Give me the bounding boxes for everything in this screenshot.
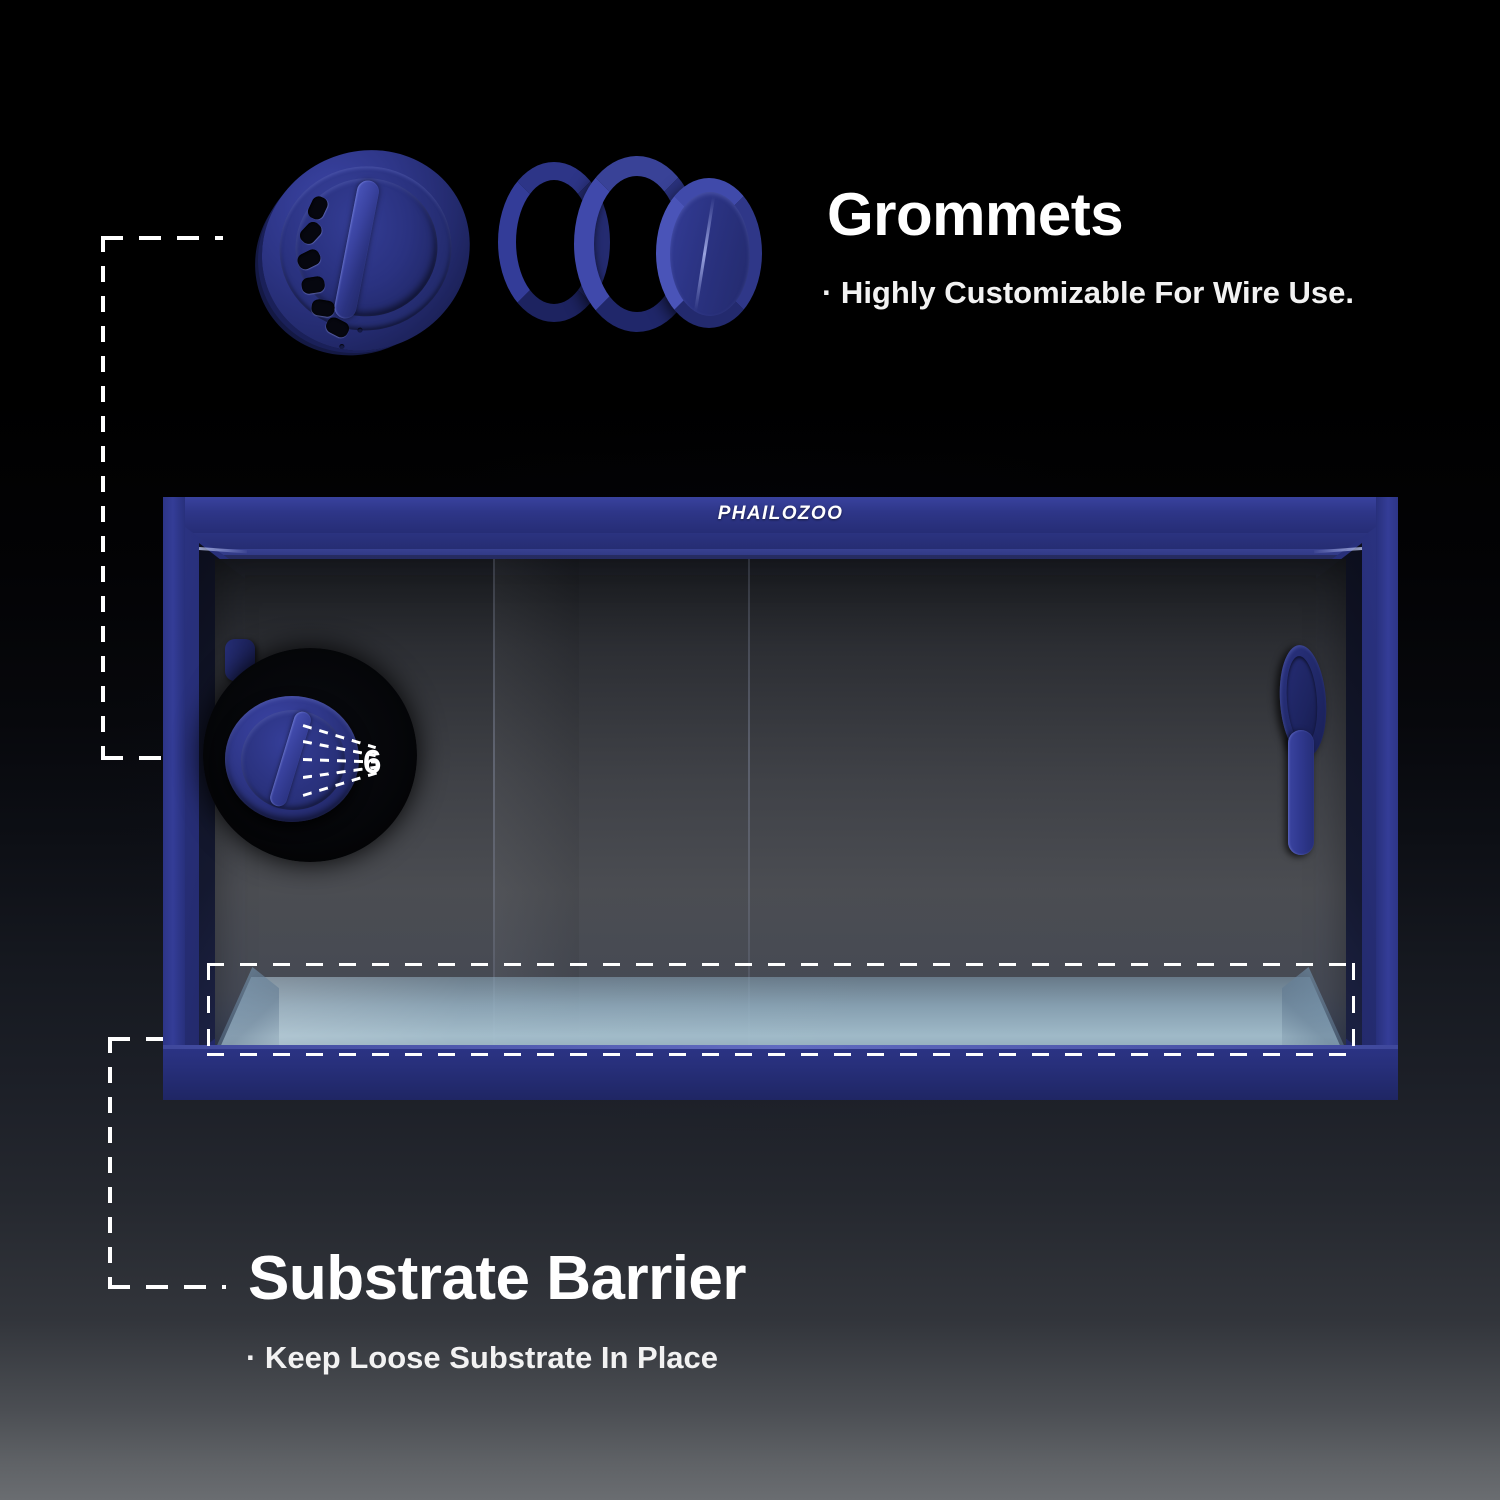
brand-wordmark: PHAILOZOO <box>163 503 1398 525</box>
grommet-slot-count-label: 6 <box>363 743 381 781</box>
enclosure-right-post <box>1376 497 1398 1100</box>
grommet-magnifier-callout: 6 <box>203 648 417 862</box>
substrate-outline-left <box>207 963 210 1055</box>
glass-door-seam-right <box>748 559 750 1049</box>
door-handle <box>1288 730 1314 855</box>
substrate-barrier-bullet: · Keep Loose Substrate In Place <box>246 1340 718 1376</box>
grommet-cap-icon <box>242 131 496 372</box>
substrate-outline-right <box>1352 963 1355 1055</box>
substrate-outline-bottom <box>207 1053 1355 1056</box>
grommet-parts-illustration <box>236 136 776 366</box>
glass-door-seam-left <box>493 559 495 1049</box>
substrate-barrier-title: Substrate Barrier <box>248 1243 746 1314</box>
grommet-rings-icon <box>498 152 776 352</box>
substrate-callout-bottom-dash <box>108 1285 226 1289</box>
enclosure-top-rail: PHAILOZOO <box>163 497 1398 533</box>
substrate-outline-top <box>207 963 1355 966</box>
grommets-title: Grommets <box>827 180 1123 249</box>
infographic-canvas: Grommets · Highly Customizable For Wire … <box>0 0 1500 1500</box>
enclosure-left-post <box>163 497 185 1100</box>
grommet-callout-top-dash <box>101 236 223 240</box>
grommet-callout-vertical-dash <box>101 236 105 760</box>
substrate-callout-vertical-dash <box>108 1037 112 1289</box>
grommets-bullet: · Highly Customizable For Wire Use. <box>822 275 1354 311</box>
glass-panel-shade-left <box>493 559 579 1049</box>
enclosure-bottom-rail-highlight <box>163 1045 1398 1049</box>
